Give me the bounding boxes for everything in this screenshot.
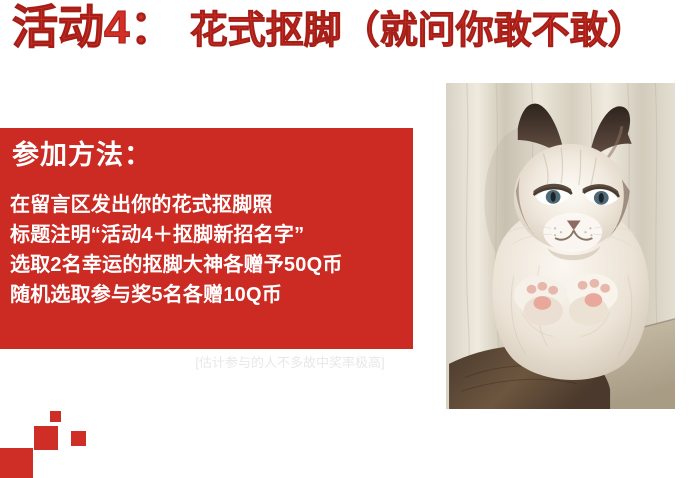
cat-photo: [443, 80, 678, 412]
rules-panel: 参加方法： 在留言区发出你的花式抠脚照 标题注明“活动4＋抠脚新招名字” 选取2…: [0, 128, 413, 349]
title-sub-text: 花式抠脚（就问你敢不敢）: [190, 12, 646, 50]
footnote-caption: [估计参与的人不多故中奖率极高]: [150, 352, 430, 371]
decorative-square-medium: [34, 426, 58, 450]
rules-panel-lines: 在留言区发出你的花式抠脚照 标题注明“活动4＋抠脚新招名字” 选取2名幸运的抠脚…: [10, 190, 410, 310]
decorative-square-small-right: [71, 431, 86, 446]
rules-line: 在留言区发出你的花式抠脚照: [10, 190, 410, 220]
decorative-square-corner-block: [0, 448, 33, 478]
poster-title: 活动4： 花式抠脚（就问你敢不敢）: [12, 4, 700, 68]
cat-photo-image: [446, 83, 675, 409]
rules-line: 选取2名幸运的抠脚大神各赠予50Q币: [10, 250, 410, 280]
rules-line: 标题注明“活动4＋抠脚新招名字”: [10, 220, 410, 250]
decorative-square-small-top: [50, 411, 61, 422]
title-main-text: 活动4：: [12, 4, 176, 50]
rules-panel-heading: 参加方法：: [12, 142, 152, 169]
poster-canvas: 活动4： 花式抠脚（就问你敢不敢） 参加方法： 在留言区发出你的花式抠脚照 标题…: [0, 0, 700, 478]
rules-line: 随机选取参与奖5名各赠10Q币: [10, 280, 410, 310]
